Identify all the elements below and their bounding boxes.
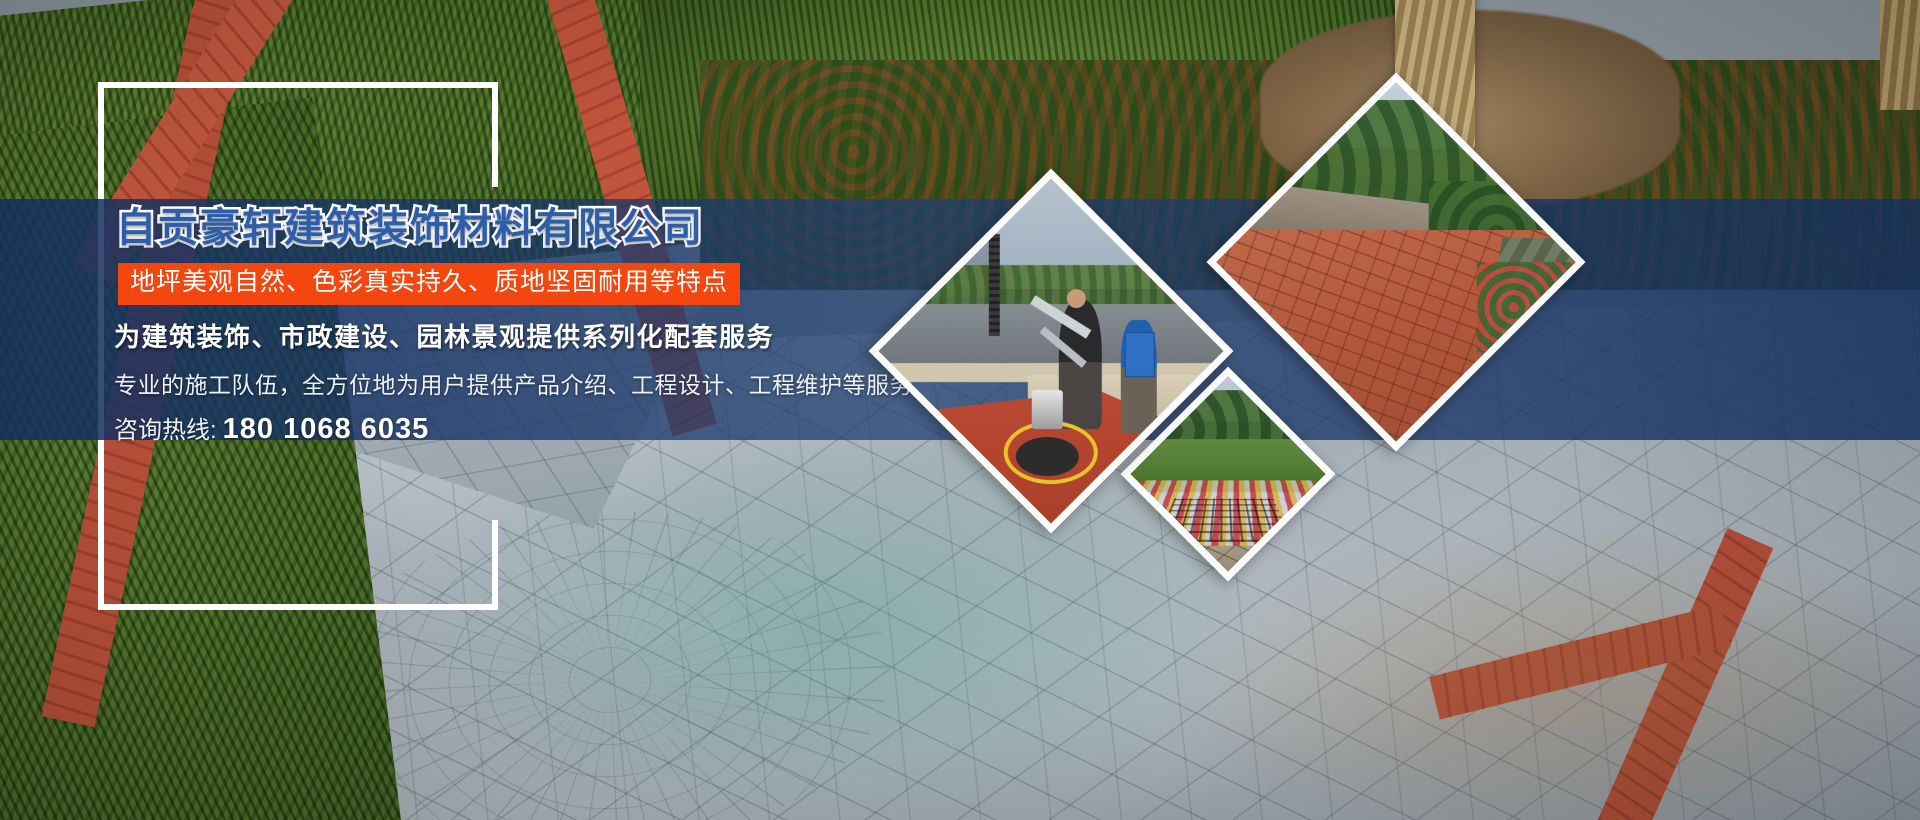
frame-right-edge-lower: [492, 520, 498, 610]
banner-copy: 自贡豪轩建筑装饰材料有限公司 地坪美观自然、色彩真实持久、质地坚固耐用等特点 为…: [112, 205, 1012, 446]
feature-badge: 地坪美观自然、色彩真实持久、质地坚固耐用等特点: [118, 263, 740, 305]
hotline-number[interactable]: 180 1068 6035: [223, 413, 430, 445]
hotline-row: 咨询热线:180 1068 6035: [114, 410, 1012, 446]
service-subline: 专业的施工队伍，全方位地为用户提供产品介绍、工程设计、工程维护等服务: [114, 366, 1012, 400]
company-name: 自贡豪轩建筑装饰材料有限公司: [116, 205, 1012, 251]
hotline-label: 咨询热线:: [114, 417, 217, 444]
frame-bottom-edge: [98, 604, 498, 610]
frame-top-edge: [98, 82, 498, 88]
frame-right-edge-upper: [492, 82, 498, 187]
banner-stage: 自贡豪轩建筑装饰材料有限公司 地坪美观自然、色彩真实持久、质地坚固耐用等特点 为…: [0, 0, 1920, 820]
palm-trunk-secondary: [1880, 0, 1920, 110]
